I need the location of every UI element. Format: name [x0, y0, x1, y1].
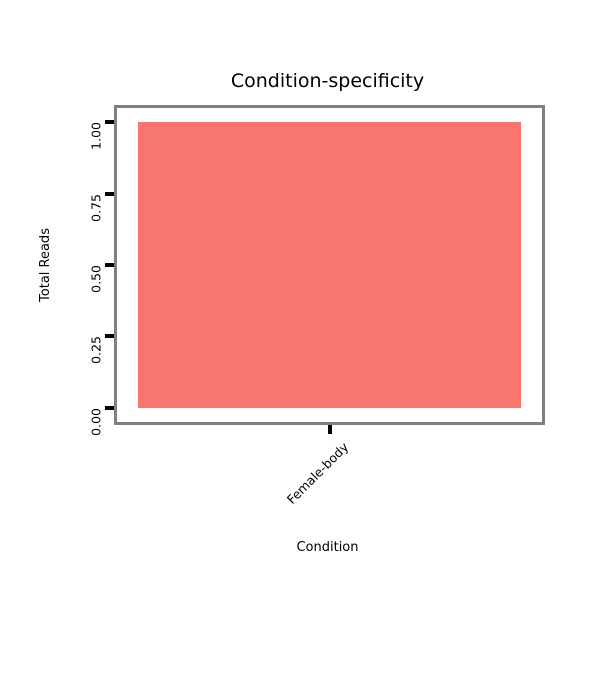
plot-panel: [114, 105, 545, 425]
y-tick-mark: [105, 192, 114, 196]
y-tick-mark: [105, 120, 114, 124]
y-tick-label-text: 0.50: [90, 265, 103, 293]
y-tick-mark: [105, 334, 114, 338]
y-tick-label-text: 0.25: [90, 336, 103, 364]
y-tick-label-text: 1.00: [90, 122, 103, 150]
bar: [138, 122, 521, 407]
x-axis-title: Condition: [0, 540, 600, 555]
y-tick-label-text: 0.00: [90, 408, 103, 436]
chart-title: Condition-specificity: [0, 70, 600, 92]
y-axis-title: Total Reads: [39, 228, 53, 302]
chart-container: Condition-specificity Total Reads 0.000.…: [0, 0, 600, 600]
y-tick-label-text: 0.75: [90, 194, 103, 222]
y-tick-mark: [105, 406, 114, 410]
x-tick-mark: [328, 425, 332, 434]
x-tick-label: Female-body: [100, 440, 351, 691]
y-tick-mark: [105, 263, 114, 267]
plot-area: [117, 108, 542, 422]
